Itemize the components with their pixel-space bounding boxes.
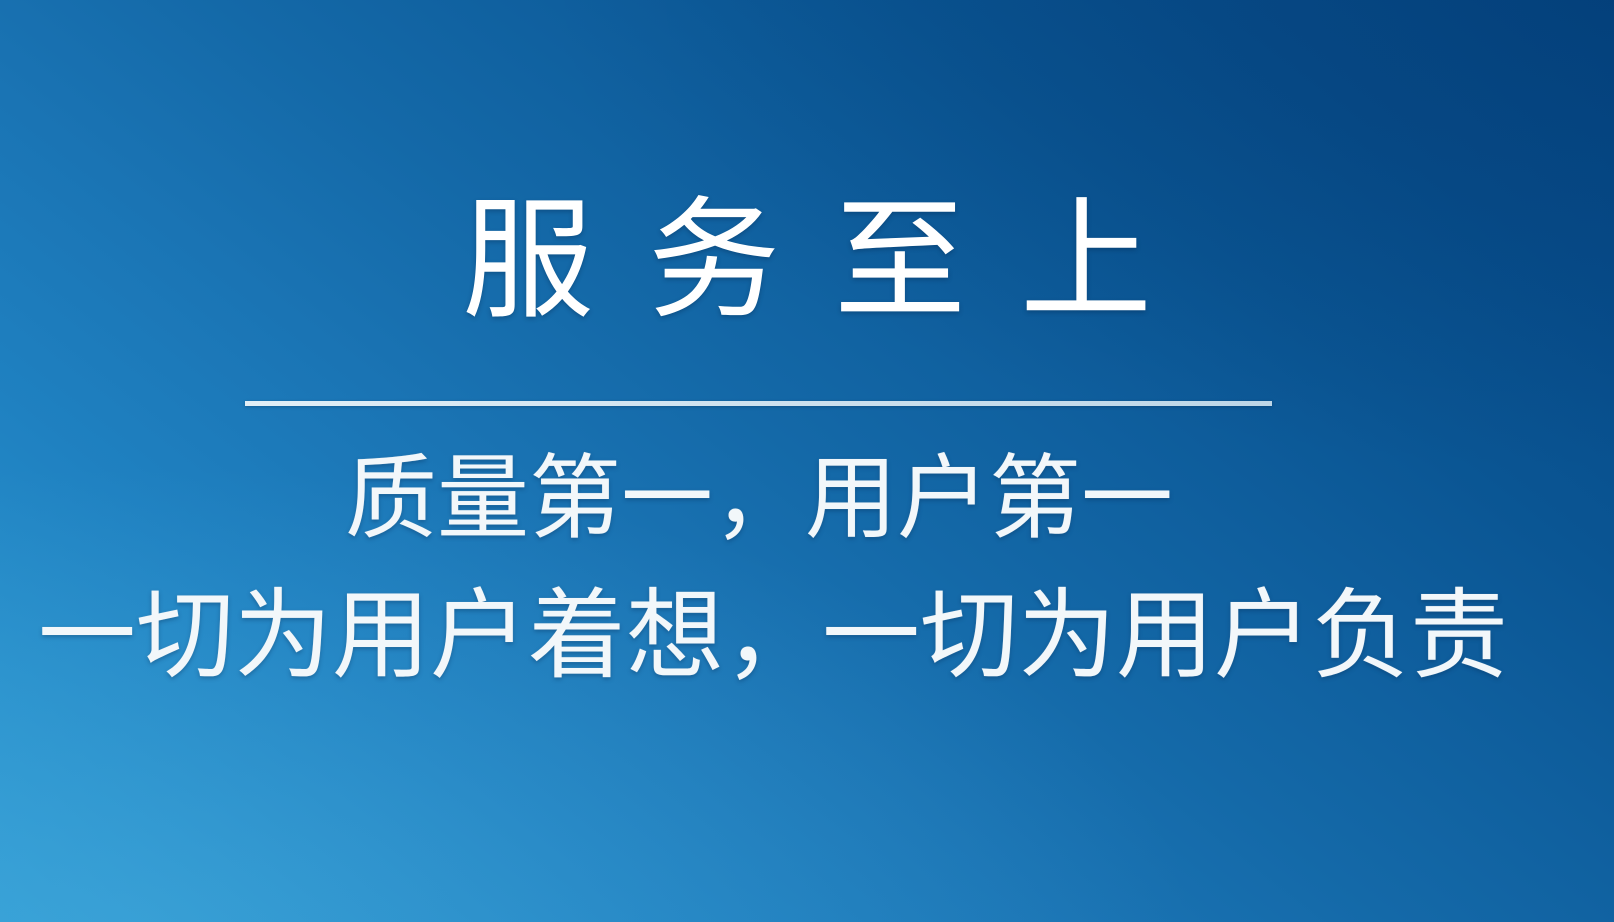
page-title: 服务至上 [0,186,1614,336]
subtitle-line-2: 一切为用户着想，一切为用户负责 [0,580,1580,690]
poster-content: 服务至上 质量第一，用户第一 一切为用户着想，一切为用户负责 [0,0,1614,922]
divider [245,401,1272,406]
poster-banner: 服务至上 质量第一，用户第一 一切为用户着想，一切为用户负责 [0,0,1614,922]
subtitle-line-1: 质量第一，用户第一 [0,447,1566,551]
